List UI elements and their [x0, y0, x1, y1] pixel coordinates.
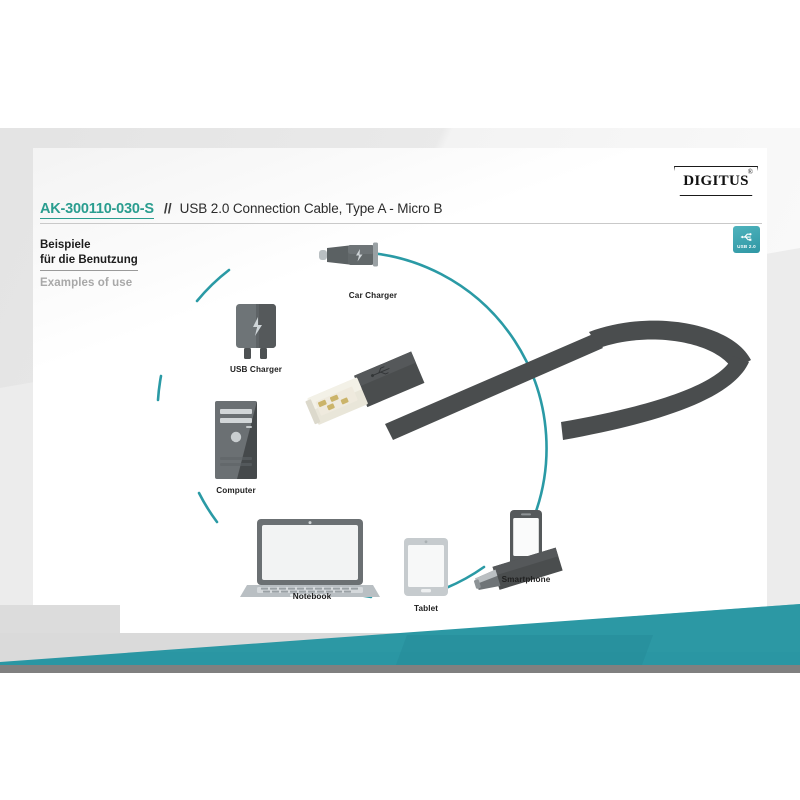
node-label-usb-charger: USB Charger	[230, 365, 282, 374]
node-label-computer: Computer	[216, 486, 255, 495]
usage-diagram: Car Charger USB Charger Computer Noteboo…	[33, 148, 767, 635]
node-label-smartphone: Smartphone	[502, 575, 551, 584]
node-label-car-charger: Car Charger	[349, 291, 397, 300]
node-label-notebook: Notebook	[293, 592, 332, 601]
arc-segment-usbcharger-carcharger	[197, 270, 229, 301]
footer-gray-strip	[0, 665, 800, 673]
laptop-icon	[240, 519, 380, 597]
usb-charger-icon	[236, 304, 276, 359]
product-datasheet-page: AK-300110-030-S // USB 2.0 Connection Ca…	[0, 0, 800, 800]
desktop-tower-icon	[215, 401, 257, 479]
arc-segment-notebook-computer	[199, 493, 217, 522]
diagram-canvas	[33, 148, 767, 635]
car-charger-icon	[319, 243, 378, 267]
arc-segment-computer-usbcharger	[158, 376, 161, 400]
node-label-tablet: Tablet	[414, 604, 438, 613]
tablet-icon	[404, 538, 448, 596]
